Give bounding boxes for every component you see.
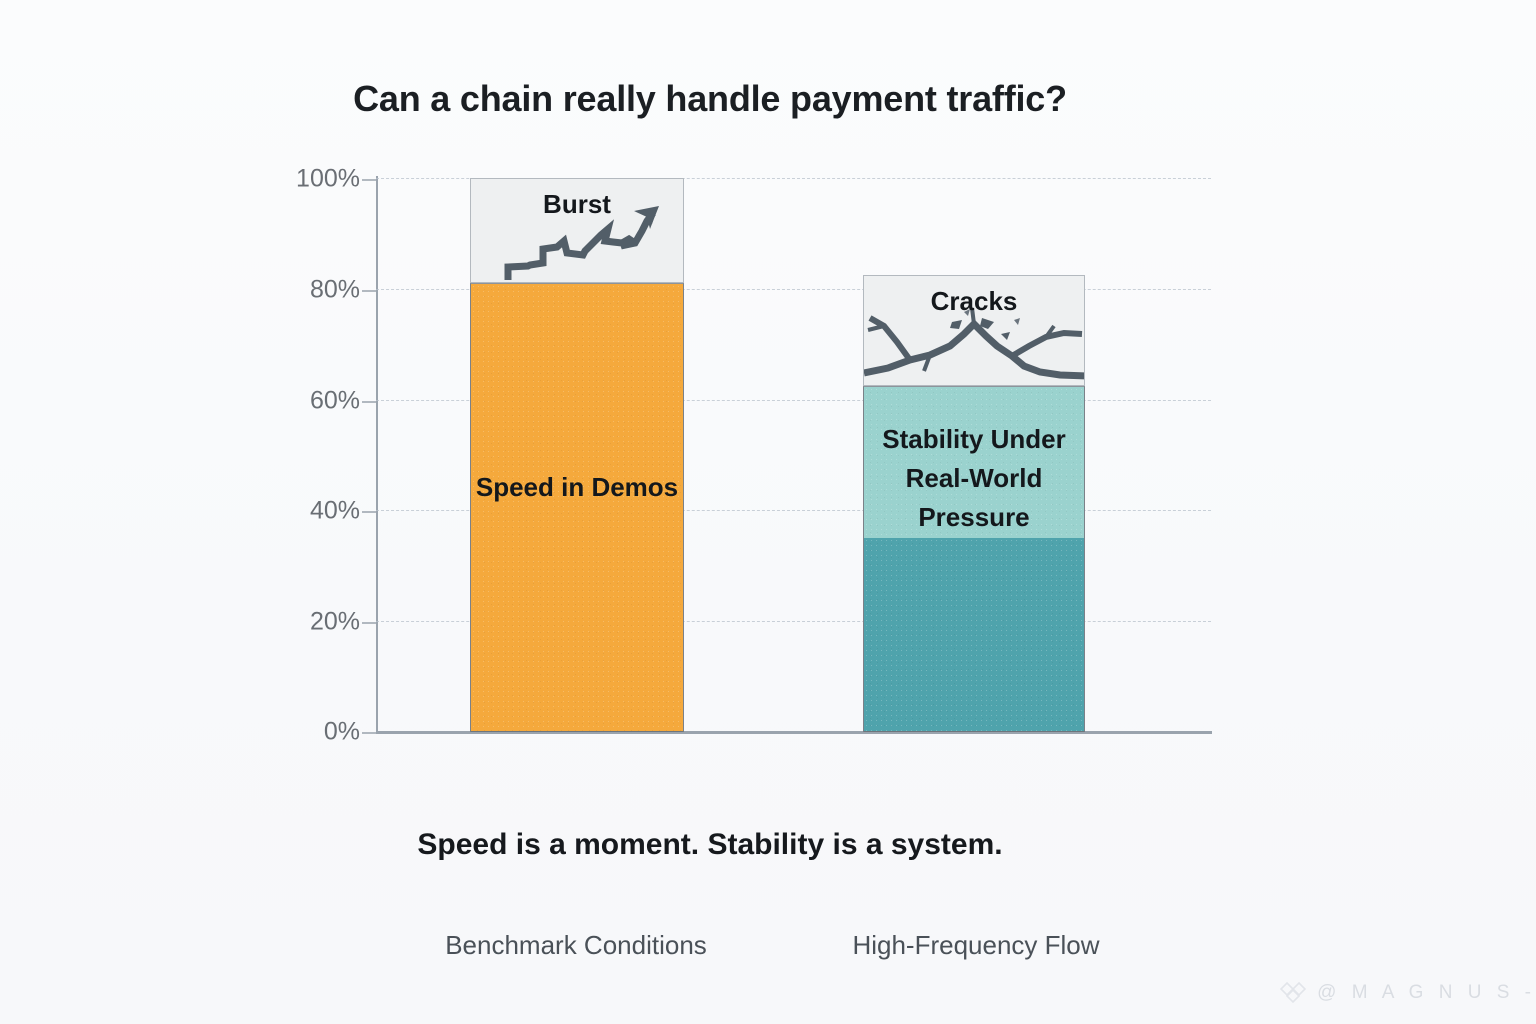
diamond-logo-icon [1279,980,1309,1006]
plot-area: 100% 80% 60% 40% 20% 0% [376,178,1211,732]
bar-texture [471,284,683,731]
bar-cap-label-burst: Burst [471,189,683,220]
bar-inner-label-stability: Stability Under Real-World Pressure [857,420,1091,537]
x-category-label-high-frequency-flow: High-Frequency Flow [796,930,1156,961]
bar-inner-label-speed-in-demos: Speed in Demos [464,468,690,507]
tick-mark-0 [362,732,376,734]
y-tick-label-60: 60% [310,386,360,415]
tick-mark-80 [362,290,376,292]
tick-mark-100 [362,179,376,181]
chart-title: Can a chain really handle payment traffi… [0,78,1420,120]
tick-mark-60 [362,401,376,403]
tick-mark-20 [362,622,376,624]
chart-canvas: Can a chain really handle payment traffi… [0,0,1536,1024]
bar-cap-cracks: Cracks [863,275,1085,386]
bar-texture [864,538,1084,731]
y-tick-label-80: 80% [310,275,360,304]
y-tick-label-0: 0% [324,718,360,747]
bar-cap-burst: Burst [470,178,684,283]
bar-benchmark-conditions[interactable]: Burst Speed in Demos [470,178,684,732]
x-category-label-benchmark-conditions: Benchmark Conditions [396,930,756,961]
y-tick-label-20: 20% [310,608,360,637]
chart-caption: Speed is a moment. Stability is a system… [0,828,1420,862]
bar-segment-speed [470,283,684,732]
bar-segment-base [863,538,1085,732]
watermark: @ M A G N U S - [1279,980,1536,1006]
tick-mark-40 [362,511,376,513]
bar-high-frequency-flow[interactable]: Cracks Stability Under Real-World Pressu… [863,178,1085,732]
y-tick-label-40: 40% [310,497,360,526]
y-tick-label-100: 100% [296,165,360,194]
watermark-handle: @ M A G N U S - [1317,982,1536,1004]
bar-cap-label-cracks: Cracks [864,286,1084,317]
